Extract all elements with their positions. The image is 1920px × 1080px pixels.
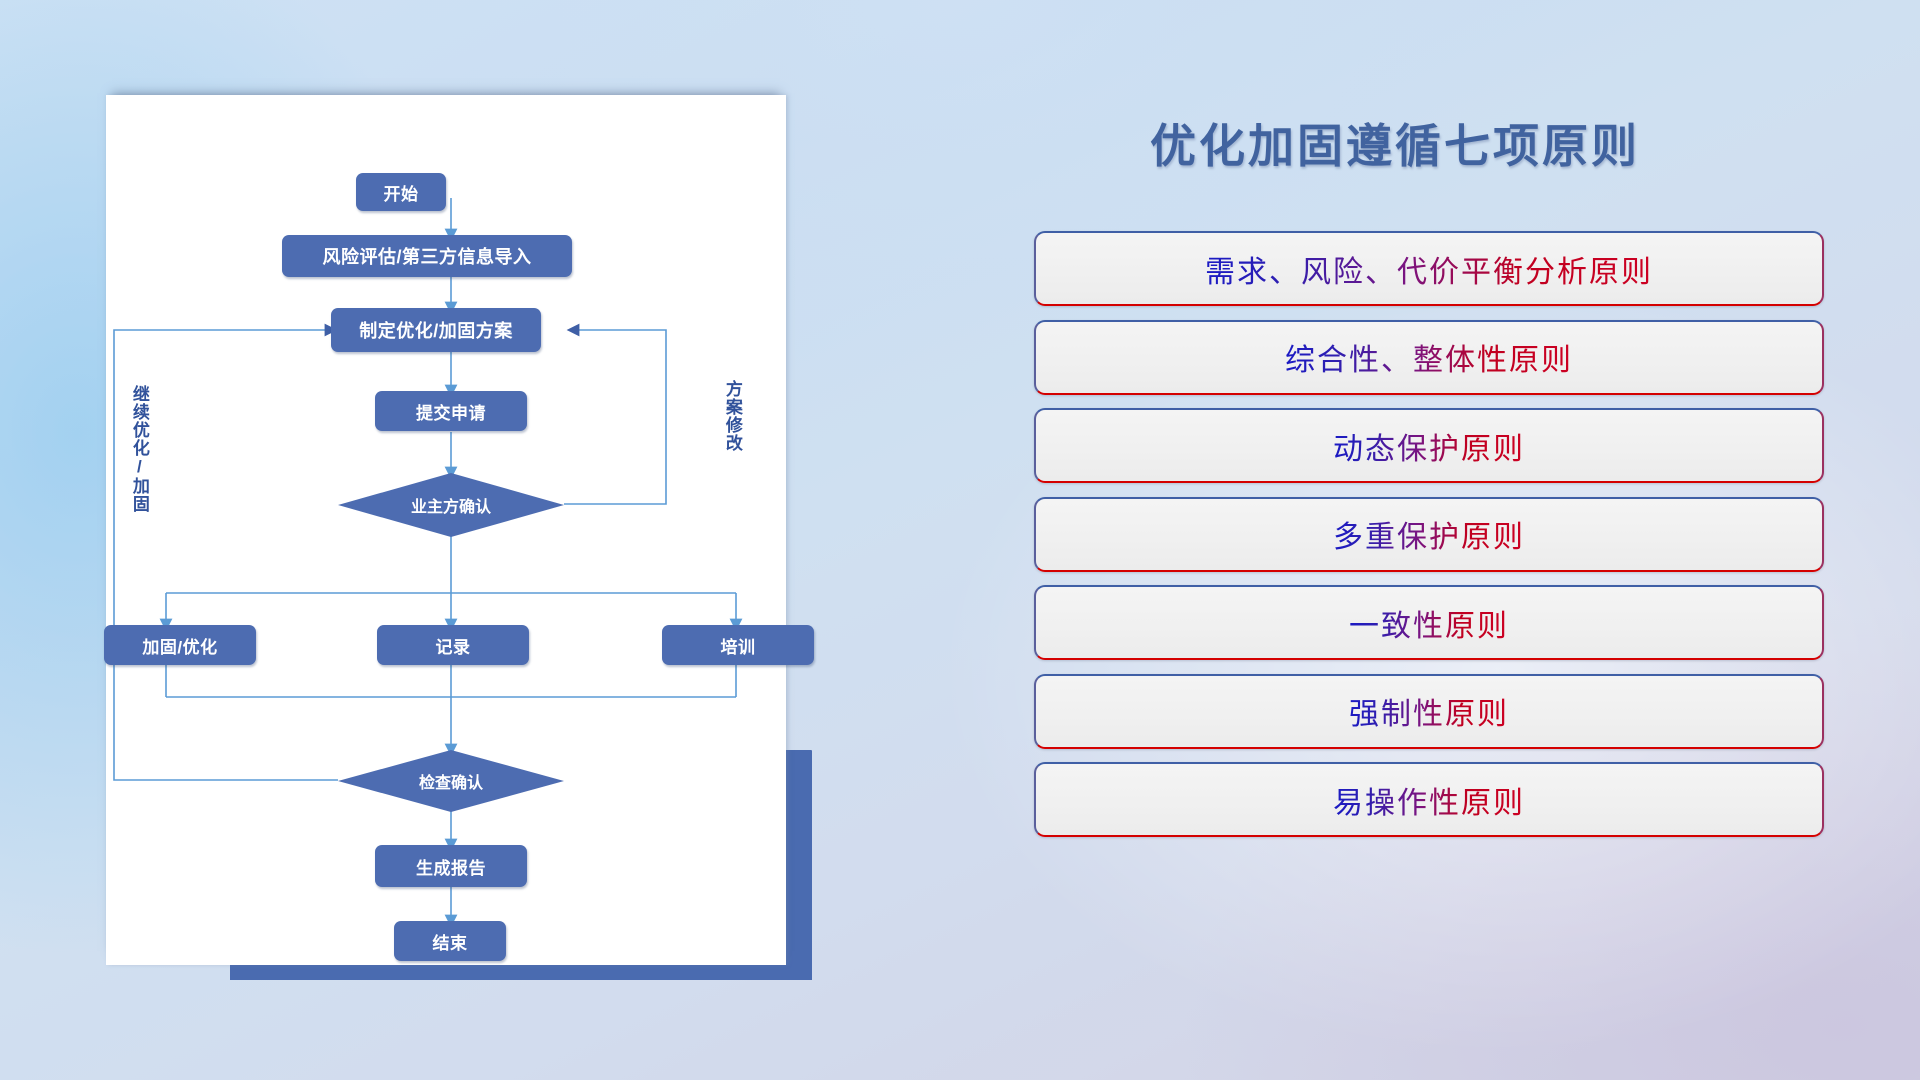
panel-title: 优化加固遵循七项原则 <box>1150 110 1640 176</box>
principle-item[interactable]: 综合性、整体性原则 <box>1034 320 1824 395</box>
flow-node-training: 培训 <box>662 625 814 665</box>
flow-node-submit-application-label: 提交申请 <box>416 399 486 424</box>
flow-edge-label-left: 继续优化/加固 <box>130 385 148 513</box>
principle-item-label: 需求、风险、代价平衡分析原则 <box>1205 247 1653 291</box>
principle-item-label: 动态保护原则 <box>1333 424 1525 468</box>
flow-node-owner-confirm-label: 业主方确认 <box>411 493 491 517</box>
flow-node-start-label: 开始 <box>384 180 419 205</box>
principle-item[interactable]: 强制性原则 <box>1034 674 1824 749</box>
flow-node-end-label: 结束 <box>433 929 468 954</box>
principle-item[interactable]: 需求、风险、代价平衡分析原则 <box>1034 231 1824 306</box>
principle-item-label: 一致性原则 <box>1349 601 1509 645</box>
flowchart-card: 开始 风险评估/第三方信息导入 制定优化/加固方案 提交申请 业主方确认 加固/… <box>106 95 786 965</box>
flow-node-submit-application: 提交申请 <box>375 391 527 431</box>
flow-edge-label-right: 方案修改 <box>723 380 741 452</box>
principle-item[interactable]: 一致性原则 <box>1034 585 1824 660</box>
flow-node-reinforce: 加固/优化 <box>104 625 256 665</box>
flow-node-start: 开始 <box>356 173 446 211</box>
principle-item[interactable]: 易操作性原则 <box>1034 762 1824 837</box>
principles-list: 需求、风险、代价平衡分析原则 综合性、整体性原则 动态保护原则 多重保护原则 一… <box>1034 231 1824 851</box>
flow-node-training-label: 培训 <box>721 633 756 658</box>
flow-node-generate-report: 生成报告 <box>375 845 527 887</box>
flow-node-record-label: 记录 <box>436 633 471 658</box>
principle-item[interactable]: 动态保护原则 <box>1034 408 1824 483</box>
principle-item[interactable]: 多重保护原则 <box>1034 497 1824 572</box>
principle-item-label: 强制性原则 <box>1349 689 1509 733</box>
flow-node-generate-report-label: 生成报告 <box>416 854 486 879</box>
principle-item-label: 多重保护原则 <box>1333 512 1525 556</box>
flow-node-risk-assessment: 风险评估/第三方信息导入 <box>282 235 572 277</box>
principle-item-label: 易操作性原则 <box>1333 778 1525 822</box>
flowchart-panel: 开始 风险评估/第三方信息导入 制定优化/加固方案 提交申请 业主方确认 加固/… <box>0 0 880 1080</box>
flow-node-risk-assessment-label: 风险评估/第三方信息导入 <box>323 243 532 269</box>
principle-item-label: 综合性、整体性原则 <box>1285 335 1573 379</box>
flow-node-plan-label: 制定优化/加固方案 <box>359 317 513 343</box>
flow-node-check-confirm-label: 检查确认 <box>419 769 483 793</box>
principles-panel: 优化加固遵循七项原则 需求、风险、代价平衡分析原则 综合性、整体性原则 动态保护… <box>1010 0 1890 1080</box>
flow-node-plan: 制定优化/加固方案 <box>331 308 541 352</box>
flow-node-end: 结束 <box>394 921 506 961</box>
flow-node-reinforce-label: 加固/优化 <box>142 633 217 658</box>
flow-node-record: 记录 <box>377 625 529 665</box>
